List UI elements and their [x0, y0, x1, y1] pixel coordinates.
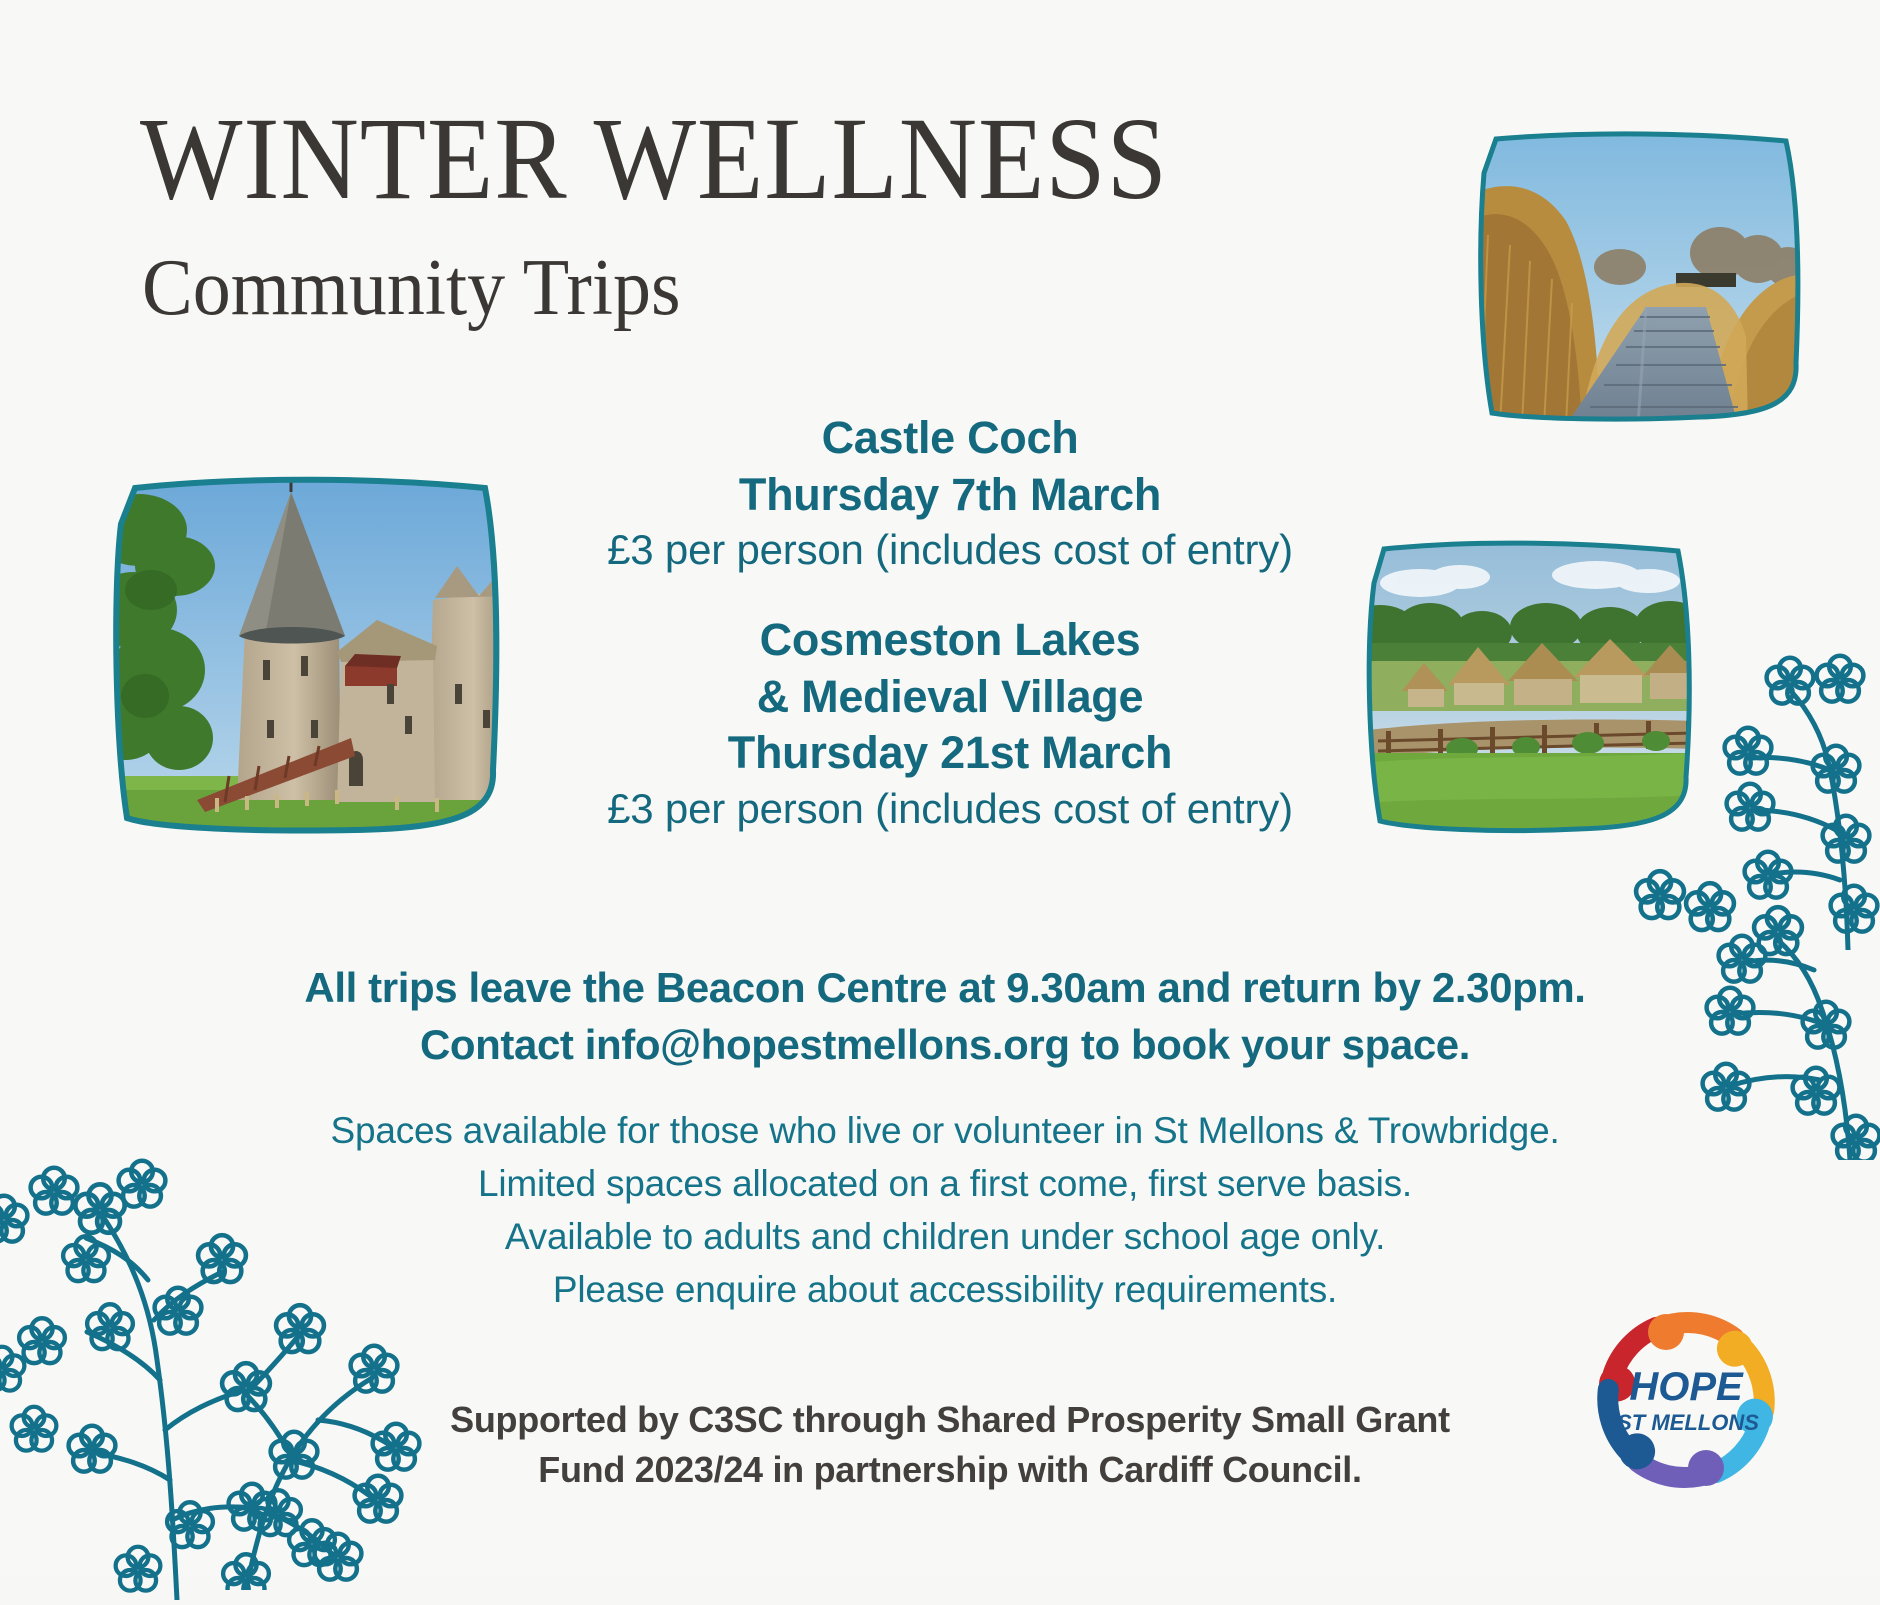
credit-line-2: Fund 2023/24 in partnership with Cardiff…: [300, 1445, 1600, 1495]
note-line: Please enquire about accessibility requi…: [180, 1264, 1710, 1317]
page-subtitle: Community Trips: [142, 248, 681, 328]
booking-line-2[interactable]: Contact info@hopestmellons.org to book y…: [180, 1017, 1710, 1074]
booking-info: All trips leave the Beacon Centre at 9.3…: [180, 960, 1710, 1073]
funding-credit: Supported by C3SC through Shared Prosper…: [300, 1395, 1600, 1494]
trip-date: Thursday 7th March: [300, 467, 1600, 524]
trip-name-line-1: Cosmeston Lakes: [300, 612, 1600, 669]
eligibility-notes: Spaces available for those who live or v…: [180, 1105, 1710, 1317]
note-line: Available to adults and children under s…: [180, 1211, 1710, 1264]
trip-item-cosmeston: Cosmeston Lakes & Medieval Village Thurs…: [300, 612, 1600, 837]
booking-line-1: All trips leave the Beacon Centre at 9.3…: [180, 960, 1710, 1017]
trip-price: £3 per person (includes cost of entry): [300, 782, 1600, 837]
logo-word-st-mellons: ST MELLONS: [1617, 1410, 1759, 1435]
trip-date: Thursday 21st March: [300, 725, 1600, 782]
trip-item-castle-coch: Castle Coch Thursday 7th March £3 per pe…: [300, 410, 1600, 578]
note-line: Limited spaces allocated on a first come…: [180, 1158, 1710, 1211]
note-line: Spaces available for those who live or v…: [180, 1105, 1710, 1158]
hope-st-mellons-logo: HOPE ST MELLONS: [1582, 1296, 1790, 1504]
logo-word-hope: HOPE: [1629, 1365, 1744, 1409]
trips-spacer: [300, 578, 1600, 612]
page-title: WINTER WELLNESS: [140, 100, 1168, 218]
trip-name-line-2: & Medieval Village: [300, 669, 1600, 726]
trip-name: Castle Coch: [300, 410, 1600, 467]
trip-price: £3 per person (includes cost of entry): [300, 523, 1600, 578]
poster-canvas: WINTER WELLNESS Community Trips: [0, 0, 1880, 1576]
credit-line-1: Supported by C3SC through Shared Prosper…: [300, 1395, 1600, 1445]
trips-list: Castle Coch Thursday 7th March £3 per pe…: [300, 410, 1600, 837]
boardwalk-reeds-photo: [1470, 125, 1810, 425]
